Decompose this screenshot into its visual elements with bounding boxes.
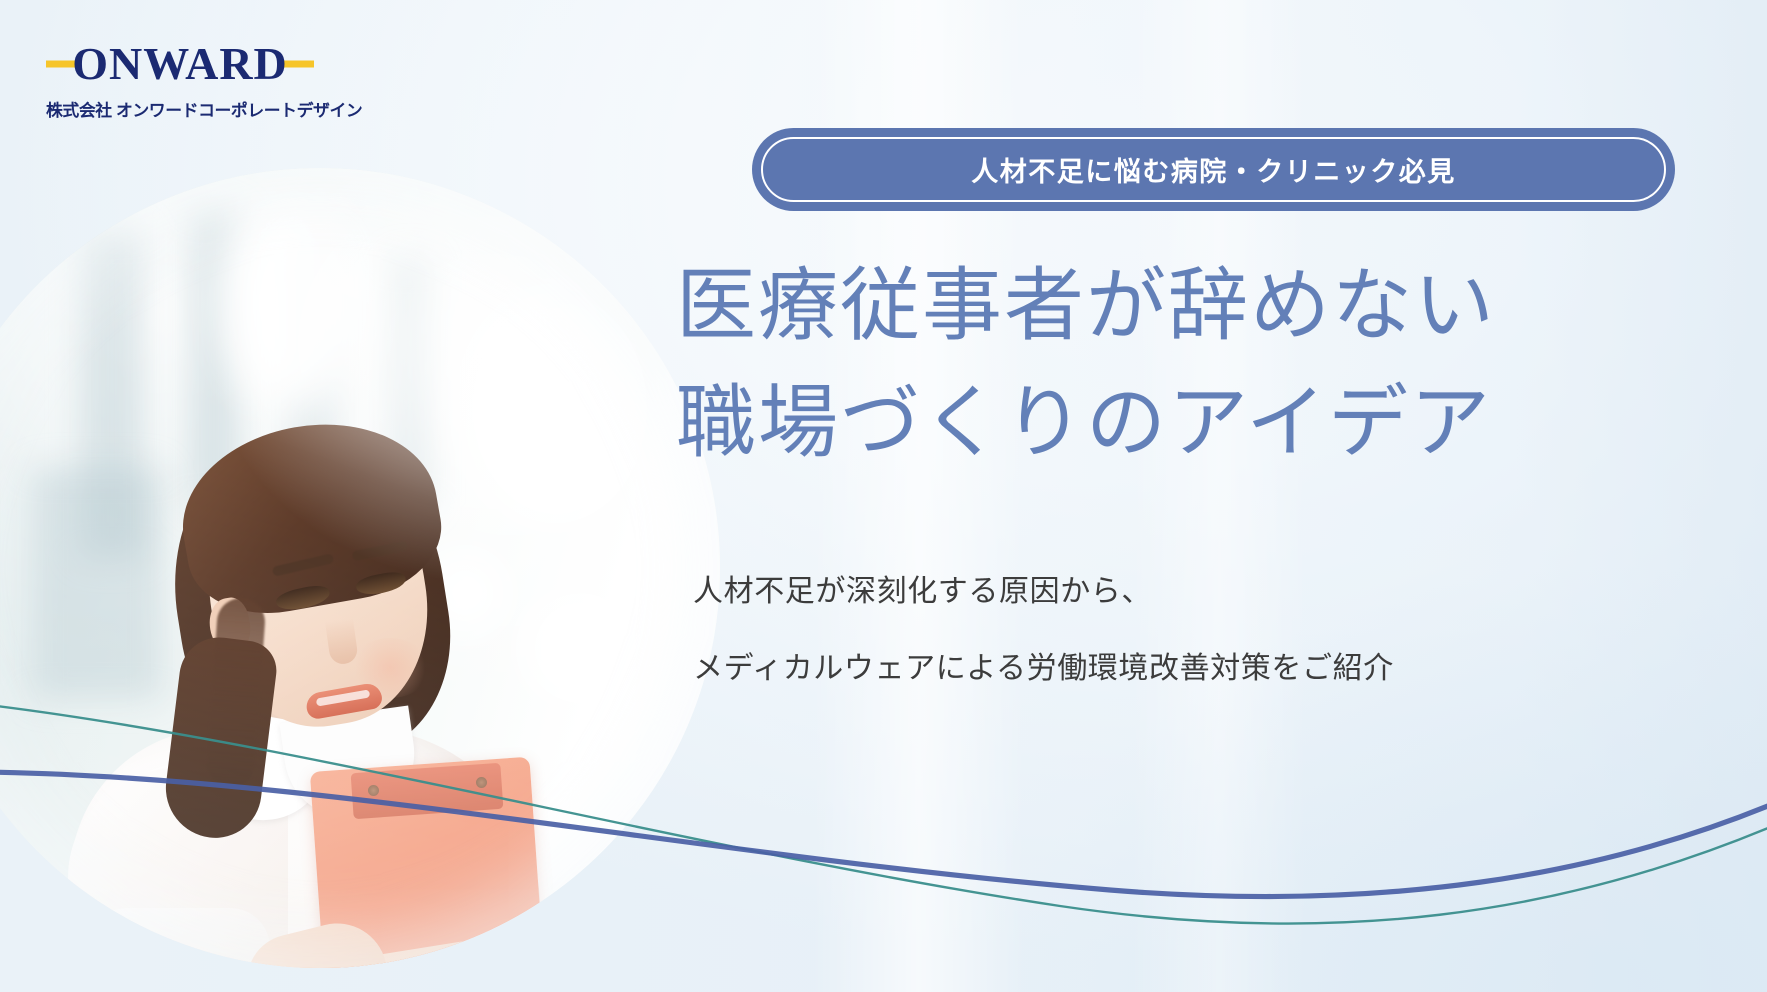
logo-wordmark: ONWARD (62, 41, 298, 87)
headline-line-2: 職場づくりのアイデア (676, 365, 1736, 482)
headline-line-1: 医療従事者が辞めない (676, 248, 1736, 365)
subtitle-line-1: 人材不足が深刻化する原因から、 (693, 554, 1693, 631)
hero-photo-circle (0, 168, 720, 968)
badge-label: 人材不足に悩む病院・クリニック必見 (971, 150, 1456, 189)
logo-mark: ONWARD (46, 38, 314, 90)
photo-figure (0, 168, 720, 968)
logo-subtitle: 株式会社 オンワードコーポレートデザイン (46, 97, 319, 121)
onward-logo[interactable]: ONWARD 株式会社 オンワードコーポレートデザイン (46, 38, 314, 121)
subtitle: 人材不足が深刻化する原因から、 メディカルウェアによる労働環境改善対策をご紹介 (693, 554, 1693, 707)
headline: 医療従事者が辞めない 職場づくりのアイデア (676, 248, 1736, 482)
hero-banner: ONWARD 株式会社 オンワードコーポレートデザイン 人材不足に悩む病院・クリ… (0, 0, 1767, 992)
audience-badge: 人材不足に悩む病院・クリニック必見 (752, 128, 1675, 211)
subtitle-line-2: メディカルウェアによる労働環境改善対策をご紹介 (693, 631, 1693, 708)
